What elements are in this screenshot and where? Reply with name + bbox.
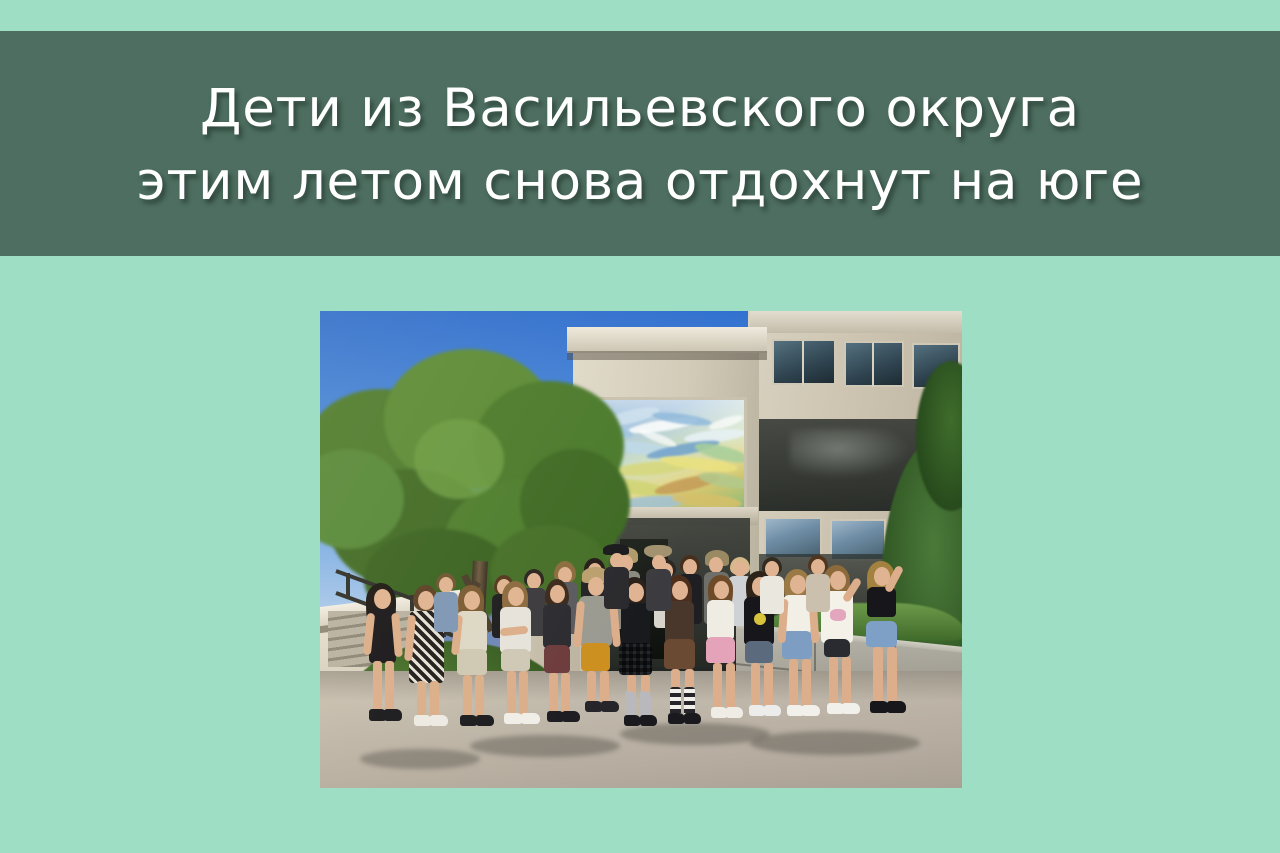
poster-canvas: Дети из Васильевского округа этим летом … (0, 0, 1280, 853)
bottom-background-strip (0, 788, 1280, 853)
headline-line-2: этим летом снова отдохнут на юге (137, 146, 1144, 218)
scene-photograph (320, 311, 962, 788)
headline-line-1: Дети из Васильевского округа (200, 73, 1080, 145)
tshirt-print (830, 609, 846, 621)
people-group (320, 311, 962, 788)
tshirt-print (754, 613, 766, 625)
top-background-strip (0, 0, 1280, 31)
headline-band: Дети из Васильевского округа этим летом … (0, 31, 1280, 256)
